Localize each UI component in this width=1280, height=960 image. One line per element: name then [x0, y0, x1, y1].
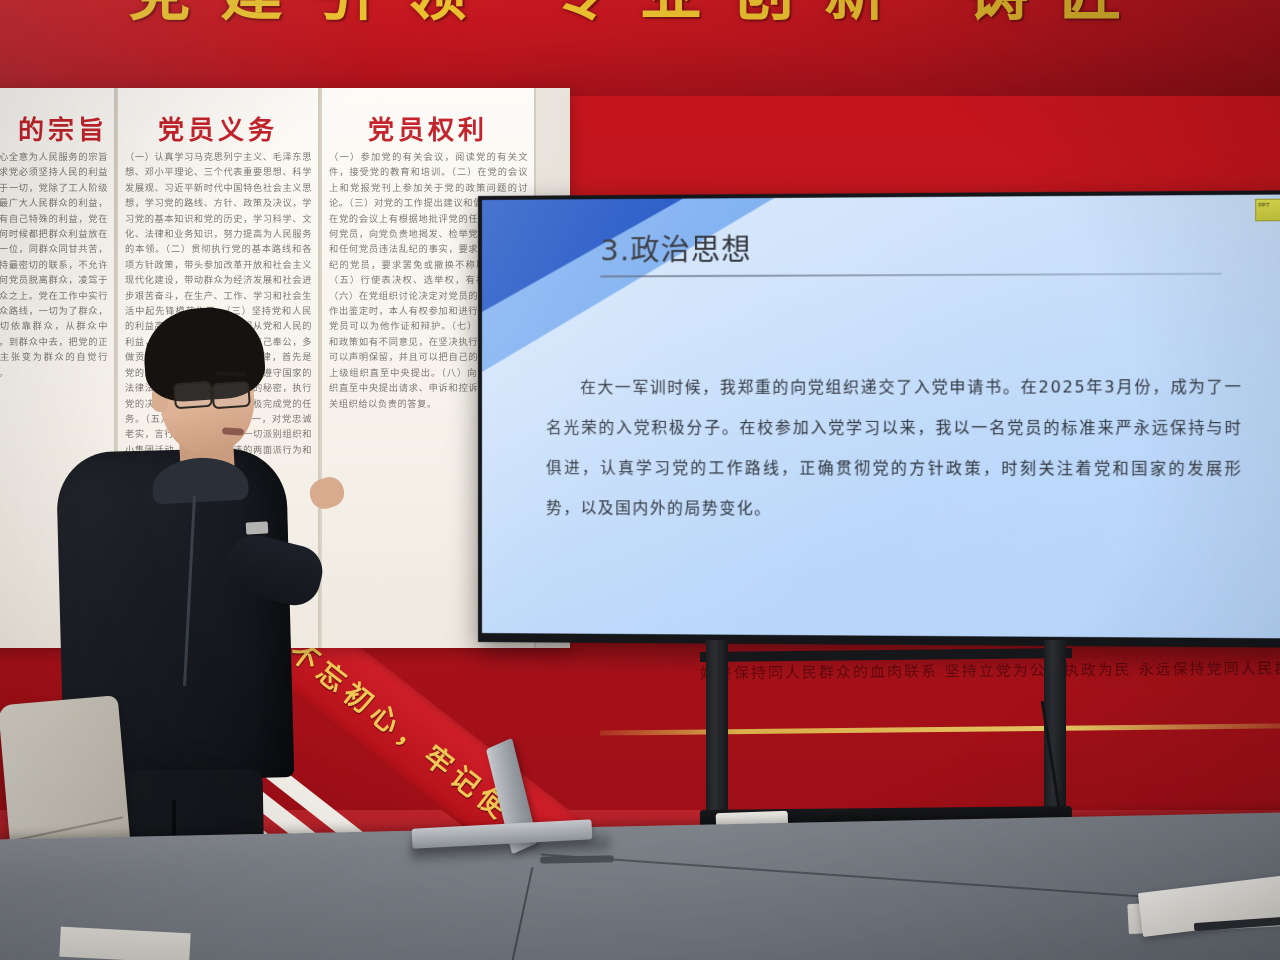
presenter-jacket-logo	[246, 521, 269, 534]
presentation-slide: 3.政治思想 在大一军训时候，我郑重的向党组织递交了入党申请书。在2025年3月…	[482, 194, 1280, 638]
presentation-room-photo: 始终保持同人民群众的血肉联系 坚持立党为公、执政为民 永远保持党同人民群众的血肉…	[0, 0, 1280, 960]
presenter-mouth	[222, 427, 244, 436]
wall-mounted-display[interactable]: 3.政治思想 在大一军训时候，我郑重的向党组织递交了入党申请书。在2025年3月…	[478, 190, 1280, 647]
slide-body-text: 在大一军训时候，我郑重的向党组织递交了入党申请书。在2025年3月份，成为了一名…	[546, 367, 1243, 531]
banner-sheen	[0, 0, 1280, 96]
slide-title: 3.政治思想	[600, 226, 751, 269]
poster-title: 党员权利	[322, 110, 534, 147]
poster-title: 党员义务	[118, 110, 318, 147]
top-red-banner: 党建引领 专业创新 铸匠	[0, 0, 1280, 96]
eyeglasses-icon	[211, 381, 251, 410]
eyeglasses-bridge	[207, 390, 215, 392]
table-cable-slot	[540, 855, 614, 863]
eyeglasses-icon	[173, 381, 213, 410]
poster-title: 的宗旨	[0, 110, 114, 147]
conference-table	[0, 812, 1280, 960]
slide-corner-badge: PPT	[1255, 199, 1280, 222]
papers-left	[59, 927, 190, 960]
